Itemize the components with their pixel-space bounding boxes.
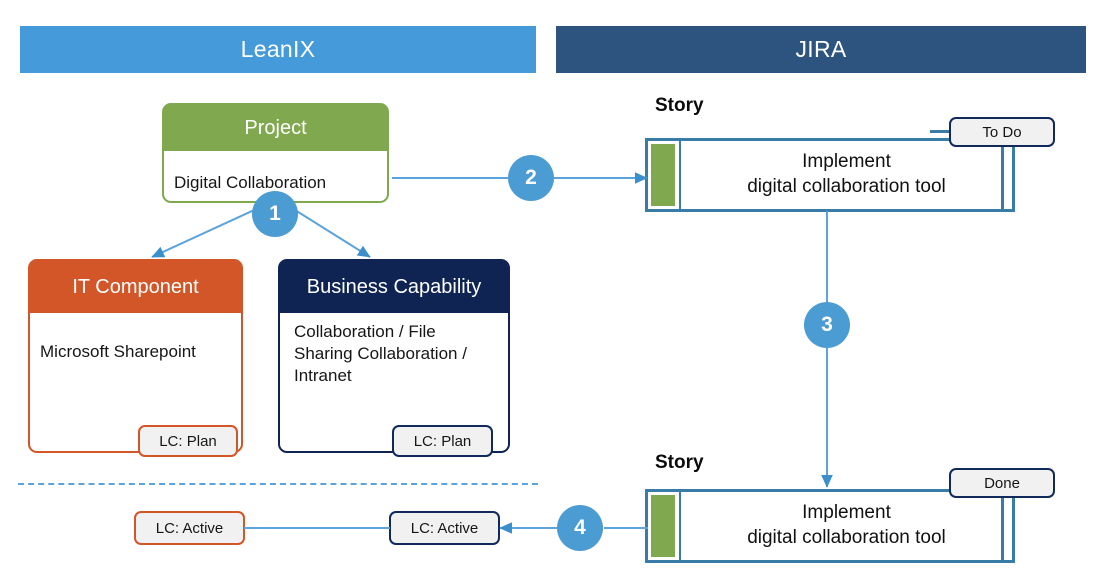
lifecycle-badge-business-capability-plan[interactable]: LC: Plan	[392, 425, 493, 457]
factsheet-it-component-name: Microsoft Sharepoint	[30, 313, 241, 367]
step-circle-4[interactable]: 4	[557, 505, 603, 551]
factsheet-project[interactable]: Project Digital Collaboration	[162, 103, 389, 203]
factsheet-it-component-type: IT Component	[30, 261, 241, 313]
section-divider	[18, 483, 538, 485]
connector-project-to-business-capability	[287, 205, 370, 257]
system-header-jira: JIRA	[556, 26, 1086, 73]
status-badge-story-bottom-label: Done	[984, 475, 1020, 492]
status-badge-story-bottom[interactable]: Done	[949, 468, 1055, 498]
step-circle-4-number: 4	[574, 516, 586, 540]
story-bottom-summary: Implement digital collaboration tool	[679, 492, 1012, 560]
system-header-leanix: LeanIX	[20, 26, 536, 73]
lifecycle-badge-business-capability-active[interactable]: LC: Active	[389, 511, 500, 545]
story-top-summary: Implement digital collaboration tool	[679, 141, 1012, 209]
connector-story-top-to-status	[1001, 144, 1004, 212]
story-bottom-color-stripe	[651, 495, 675, 557]
step-circle-1-number: 1	[269, 202, 281, 226]
lifecycle-badge-it-component-plan[interactable]: LC: Plan	[138, 425, 238, 457]
lifecycle-badge-it-component-active-label: LC: Active	[156, 520, 224, 537]
step-circle-1[interactable]: 1	[252, 191, 298, 237]
diagram-canvas: LeanIX JIRA Project Digital Collaboratio…	[0, 0, 1106, 572]
story-top-summary-line2: digital collaboration tool	[747, 175, 946, 200]
story-top-type-label: Story	[655, 95, 704, 117]
story-top-color-stripe	[651, 144, 675, 206]
status-badge-story-top[interactable]: To Do	[949, 117, 1055, 147]
system-header-jira-label: JIRA	[795, 36, 846, 63]
lifecycle-badge-business-capability-plan-label: LC: Plan	[414, 433, 472, 450]
step-circle-2[interactable]: 2	[508, 155, 554, 201]
connector-project-to-it-component	[152, 205, 265, 257]
factsheet-it-component[interactable]: IT Component Microsoft Sharepoint	[28, 259, 243, 453]
step-circle-2-number: 2	[525, 166, 537, 190]
step-circle-3-number: 3	[821, 313, 833, 337]
story-card-bottom[interactable]: Implement digital collaboration tool	[645, 489, 1015, 563]
system-header-leanix-label: LeanIX	[241, 36, 316, 63]
story-card-top[interactable]: Implement digital collaboration tool	[645, 138, 1015, 212]
lifecycle-badge-it-component-plan-label: LC: Plan	[159, 433, 217, 450]
step-circle-3[interactable]: 3	[804, 302, 850, 348]
story-bottom-summary-line2: digital collaboration tool	[747, 526, 946, 551]
lifecycle-badge-it-component-active[interactable]: LC: Active	[134, 511, 245, 545]
factsheet-business-capability-type: Business Capability	[280, 261, 508, 313]
status-badge-story-top-label: To Do	[982, 124, 1021, 141]
lifecycle-badge-business-capability-active-label: LC: Active	[411, 520, 479, 537]
factsheet-business-capability[interactable]: Business Capability Collaboration / File…	[278, 259, 510, 453]
story-top-summary-line1: Implement	[747, 150, 946, 175]
factsheet-project-type: Project	[164, 105, 387, 151]
story-bottom-summary-line1: Implement	[747, 501, 946, 526]
story-bottom-type-label: Story	[655, 452, 704, 474]
connector-story-bottom-to-status	[1001, 495, 1004, 563]
factsheet-business-capability-name: Collaboration / File Sharing Collaborati…	[280, 313, 508, 390]
